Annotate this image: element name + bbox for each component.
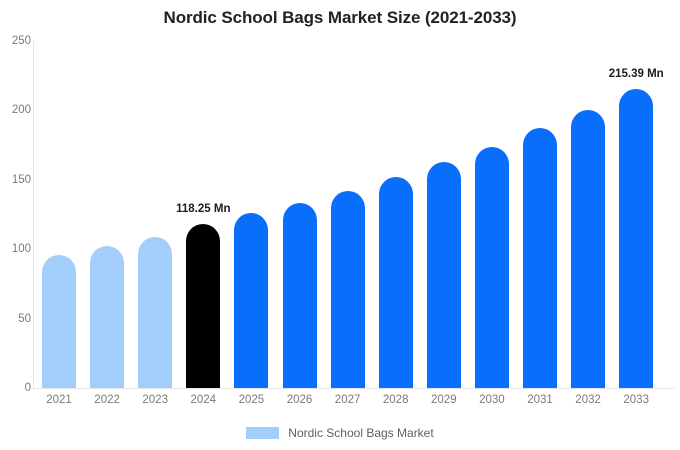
x-axis-tick-label: 2032 xyxy=(575,394,601,406)
x-axis-tick-label: 2033 xyxy=(623,394,649,406)
bar-2031[interactable] xyxy=(523,128,557,388)
x-axis-tick-label: 2021 xyxy=(46,394,72,406)
chart-legend: Nordic School Bags Market xyxy=(0,426,680,440)
chart-title: Nordic School Bags Market Size (2021-203… xyxy=(0,8,680,28)
x-axis-tick-label: 2031 xyxy=(527,394,553,406)
y-axis-tick-label: 200 xyxy=(3,104,31,116)
bar-2024[interactable] xyxy=(186,224,220,388)
y-axis-tick-label: 50 xyxy=(3,313,31,325)
bar-2023[interactable] xyxy=(138,237,172,388)
bar-2029[interactable] xyxy=(427,162,461,388)
bar-2028[interactable] xyxy=(379,177,413,388)
y-axis-tick-label: 100 xyxy=(3,243,31,255)
legend-swatch-icon xyxy=(246,427,279,439)
x-axis-tick-label: 2022 xyxy=(94,394,120,406)
x-axis-tick-label: 2024 xyxy=(191,394,217,406)
bar-2033[interactable] xyxy=(619,89,653,388)
x-axis-tick-label: 2026 xyxy=(287,394,313,406)
y-axis-ticks: 050100150200250 xyxy=(0,0,31,450)
x-axis-tick-label: 2028 xyxy=(383,394,409,406)
bar-2027[interactable] xyxy=(331,191,365,388)
y-axis-tick-label: 0 xyxy=(3,382,31,394)
bar-2026[interactable] xyxy=(283,203,317,388)
bar-2022[interactable] xyxy=(90,246,124,388)
bar-2021[interactable] xyxy=(42,255,76,388)
legend-label: Nordic School Bags Market xyxy=(288,426,433,440)
x-axis-tick-label: 2025 xyxy=(239,394,265,406)
x-axis-line xyxy=(33,388,675,389)
bar-chart: Nordic School Bags Market Size (2021-203… xyxy=(0,0,680,450)
x-axis-tick-label: 2029 xyxy=(431,394,457,406)
plot-area xyxy=(33,41,673,388)
bar-2025[interactable] xyxy=(234,213,268,388)
x-axis-tick-label: 2023 xyxy=(142,394,168,406)
bar-2032[interactable] xyxy=(571,110,605,388)
x-axis-tick-label: 2027 xyxy=(335,394,361,406)
y-axis-tick-label: 250 xyxy=(3,35,31,47)
bar-2030[interactable] xyxy=(475,147,509,389)
bar-value-label-2033: 215.39 Mn xyxy=(609,68,664,80)
bar-value-label-2024: 118.25 Mn xyxy=(176,203,230,215)
x-axis-tick-label: 2030 xyxy=(479,394,505,406)
y-axis-tick-label: 150 xyxy=(3,174,31,186)
